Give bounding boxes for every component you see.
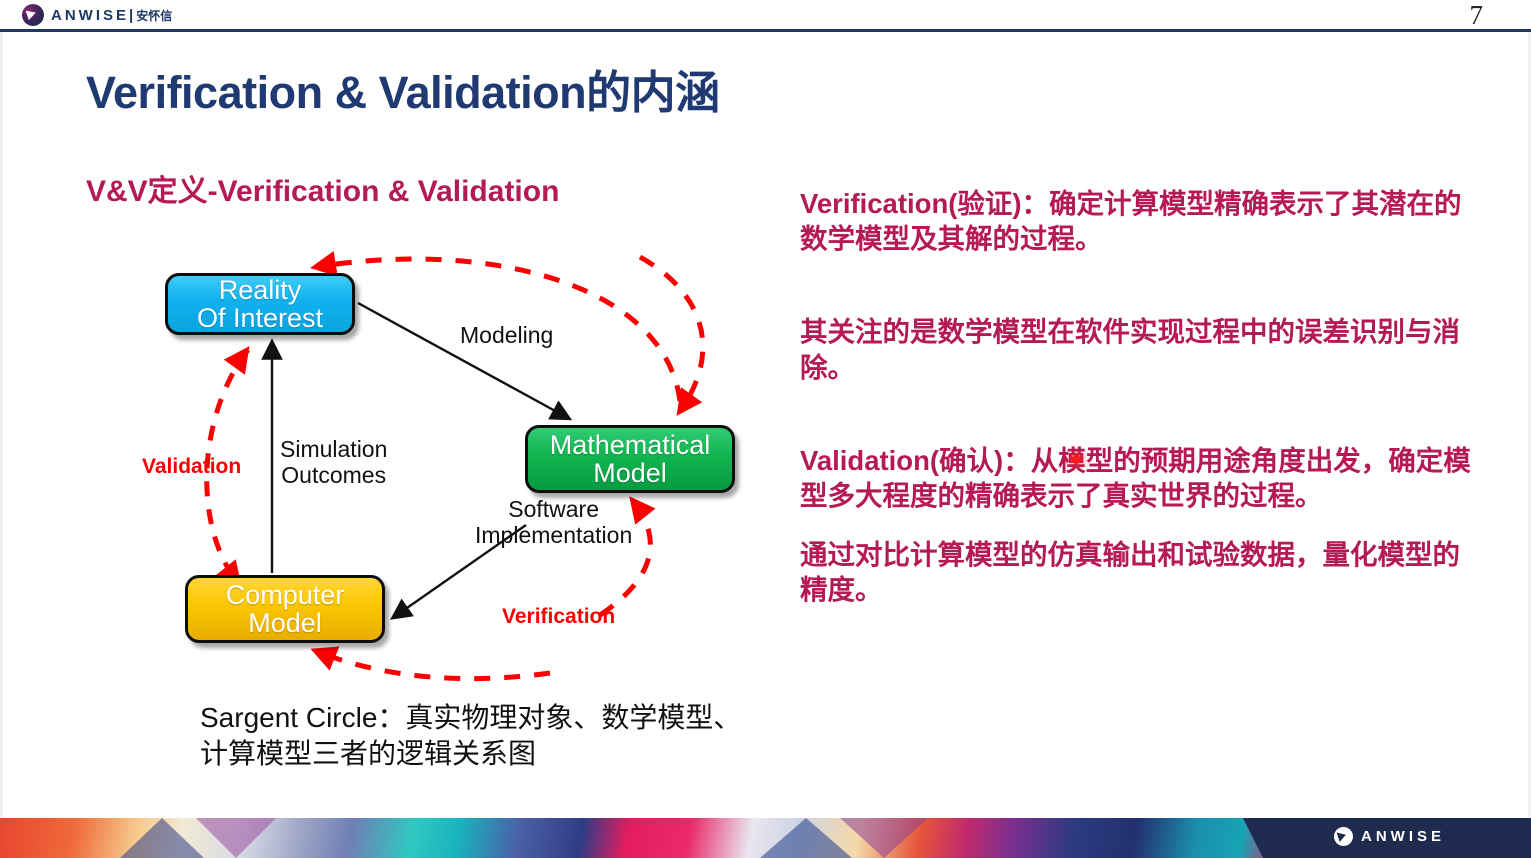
page-title: Verification & Validation的内涵 [86, 56, 720, 121]
loop-label-verification: Verification [502, 605, 615, 629]
slide-footer: ANWISE [0, 818, 1531, 858]
edge-label-simulation-line2: Outcomes [280, 463, 387, 489]
brand-logo-chinese: 安怀信 [136, 9, 172, 23]
edge-label-modeling: Modeling [460, 323, 553, 349]
node-reality-label-line2: Of Interest [197, 304, 323, 332]
header-divider [0, 29, 1531, 32]
node-math-label-line2: Model [593, 459, 667, 487]
paragraph-validation-method: 通过对比计算模型的仿真输出和试验数据，量化模型的精度。 [800, 537, 1472, 607]
footer-triangle-2 [196, 818, 276, 858]
arc-verification-bottom [316, 651, 550, 679]
diagram-caption: Sargent Circle：真实物理对象、数学模型、计算模型三者的逻辑关系图 [200, 700, 760, 773]
footer-triangle-3 [760, 818, 852, 858]
slide-edge-left [0, 32, 3, 818]
section-subtitle: V&V定义-Verification & Validation [86, 166, 559, 210]
edge-label-simulation-line1: Simulation [280, 437, 387, 463]
anwise-footer-logo-icon [1334, 827, 1353, 846]
page-number: 7 [1470, 0, 1484, 31]
node-computer-model[interactable]: Computer Model [185, 575, 385, 643]
edge-label-simulation-outcomes: Simulation Outcomes [280, 437, 387, 489]
node-reality-of-interest[interactable]: Reality Of Interest [165, 273, 355, 335]
anwise-logo-icon [22, 4, 44, 26]
brand-logo-text: ANWISE|安怀信 [51, 8, 172, 23]
paragraph-verification-focus: 其关注的是数学模型在软件实现过程中的误差识别与消除。 [800, 314, 1472, 384]
loop-label-validation: Validation [142, 455, 241, 479]
edge-label-software-line1: Software [475, 497, 632, 523]
node-reality-label-line1: Reality [219, 276, 302, 304]
node-computer-label-line1: Computer [226, 581, 345, 609]
brand-logo: ANWISE|安怀信 [22, 3, 172, 27]
node-computer-label-line2: Model [248, 609, 322, 637]
node-mathematical-model[interactable]: Mathematical Model [525, 425, 735, 493]
definitions-panel: Verification(验证)：确定计算模型精确表示了其潜在的数学模型及其解的… [800, 186, 1472, 632]
laser-pointer-dot [1072, 455, 1081, 464]
node-math-label-line1: Mathematical [550, 431, 711, 459]
paragraph-verification-definition: Verification(验证)：确定计算模型精确表示了其潜在的数学模型及其解的… [800, 186, 1472, 256]
footer-triangle-1 [120, 818, 204, 858]
slide-header: ANWISE|安怀信 7 [0, 0, 1531, 31]
edge-modeling [358, 303, 568, 418]
footer-brand-logo: ANWISE [1334, 827, 1445, 846]
edge-label-software-line2: Implementation [475, 523, 632, 549]
sargent-circle-diagram: Reality Of Interest Mathematical Model C… [120, 225, 800, 695]
footer-triangle-4 [840, 818, 928, 858]
brand-logo-latin: ANWISE [51, 7, 129, 24]
footer-brand-logo-text: ANWISE [1361, 828, 1445, 845]
footer-logo-block: ANWISE [1263, 818, 1531, 858]
paragraph-validation-definition: Validation(确认)：从模型的预期用途角度出发，确定模型多大程度的精确表… [800, 443, 1472, 513]
edge-label-software-implementation: Software Implementation [475, 497, 632, 549]
